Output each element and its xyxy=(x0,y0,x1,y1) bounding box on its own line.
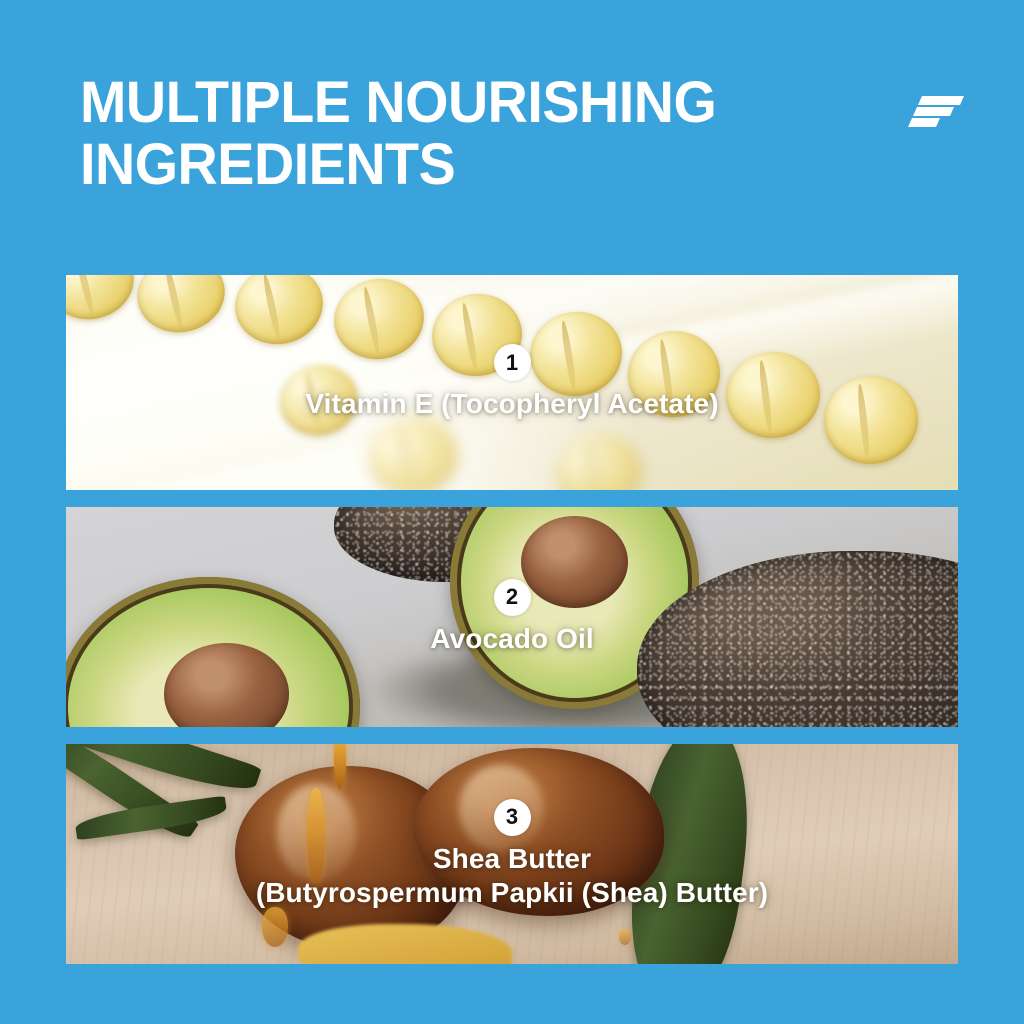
ingredient-name-2: Avocado Oil xyxy=(430,623,593,654)
ingredient-number-badge-1: 1 xyxy=(494,344,531,381)
page-title: MULTIPLE NOURISHING INGREDIENTS xyxy=(80,72,838,196)
ingredient-number-badge-2: 2 xyxy=(494,579,531,616)
ingredient-label-3: Shea Butter (Butyrospermum Papkii (Shea)… xyxy=(236,842,788,910)
ingredient-panel-3[interactable]: 3 Shea Butter (Butyrospermum Papkii (She… xyxy=(66,744,958,964)
ingredient-label-2: Avocado Oil xyxy=(410,622,613,656)
page-title-line-2: INGREDIENTS xyxy=(80,132,455,197)
ingredient-label-1: Vitamin E (Tocopheryl Acetate) xyxy=(285,387,738,421)
ingredient-panel-list: 1 Vitamin E (Tocopheryl Acetate) 2 xyxy=(66,275,958,964)
ingredient-number-badge-3: 3 xyxy=(494,799,531,836)
brand-logo-icon xyxy=(906,94,968,128)
ingredient-name-3: Shea Butter xyxy=(433,843,591,874)
ingredient-name-3-secondary: (Butyrospermum Papkii (Shea) Butter) xyxy=(256,876,768,910)
ingredients-poster: MULTIPLE NOURISHING INGREDIENTS xyxy=(0,0,1024,1024)
ingredient-name-1: Vitamin E (Tocopheryl Acetate) xyxy=(305,388,718,419)
ingredient-panel-1[interactable]: 1 Vitamin E (Tocopheryl Acetate) xyxy=(66,275,958,490)
page-title-line-1: MULTIPLE NOURISHING xyxy=(80,70,716,135)
poster-header: MULTIPLE NOURISHING INGREDIENTS xyxy=(80,72,960,196)
ingredient-panel-2[interactable]: 2 Avocado Oil xyxy=(66,507,958,727)
